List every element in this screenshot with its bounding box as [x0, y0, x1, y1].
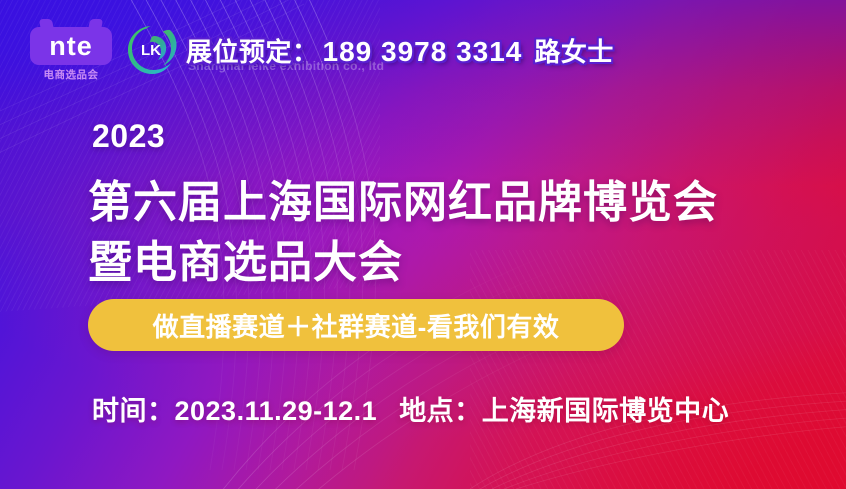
booth-booking-phone[interactable]: 189 3978 3314 [323, 36, 523, 68]
nte-logo-wordmark: nte [30, 27, 112, 65]
expo-banner: nte 电商选品会 LK Shanghai leike exhibition [0, 0, 846, 489]
booth-booking-person: 路女士 [534, 32, 614, 69]
nte-logo-subtitle: 电商选品会 [24, 67, 118, 82]
nte-logo: nte 电商选品会 [24, 17, 118, 83]
event-title-line-1: 第六届上海国际网红品牌博览会 [88, 166, 718, 230]
leike-circle-logo-icon: LK [124, 22, 180, 78]
booth-booking-contact: 展位预定： 189 3978 3314 路女士 [186, 32, 614, 69]
booth-booking-label: 展位预定： [186, 32, 319, 69]
event-venue-label: 地点： [399, 389, 482, 428]
event-date-label: 时间： [92, 389, 175, 428]
svg-text:LK: LK [141, 42, 161, 59]
event-title-line-2: 暨电商选品大会 [88, 226, 403, 290]
slogan-pill: 做直播赛道＋社群赛道-看我们有效 [88, 299, 624, 351]
event-year: 2023 [92, 118, 165, 155]
event-details-line: 时间： 2023.11.29-12.1 地点： 上海新国际博览中心 [92, 389, 729, 428]
event-venue-value: 上海新国际博览中心 [482, 389, 730, 428]
banner-topbar: nte 电商选品会 LK Shanghai leike exhibition [0, 0, 846, 100]
event-date-value: 2023.11.29-12.1 [175, 396, 378, 427]
slogan-pill-text: 做直播赛道＋社群赛道-看我们有效 [153, 307, 560, 344]
contact-block: Shanghai leike exhibition co., ltd 展位预定：… [186, 17, 846, 83]
